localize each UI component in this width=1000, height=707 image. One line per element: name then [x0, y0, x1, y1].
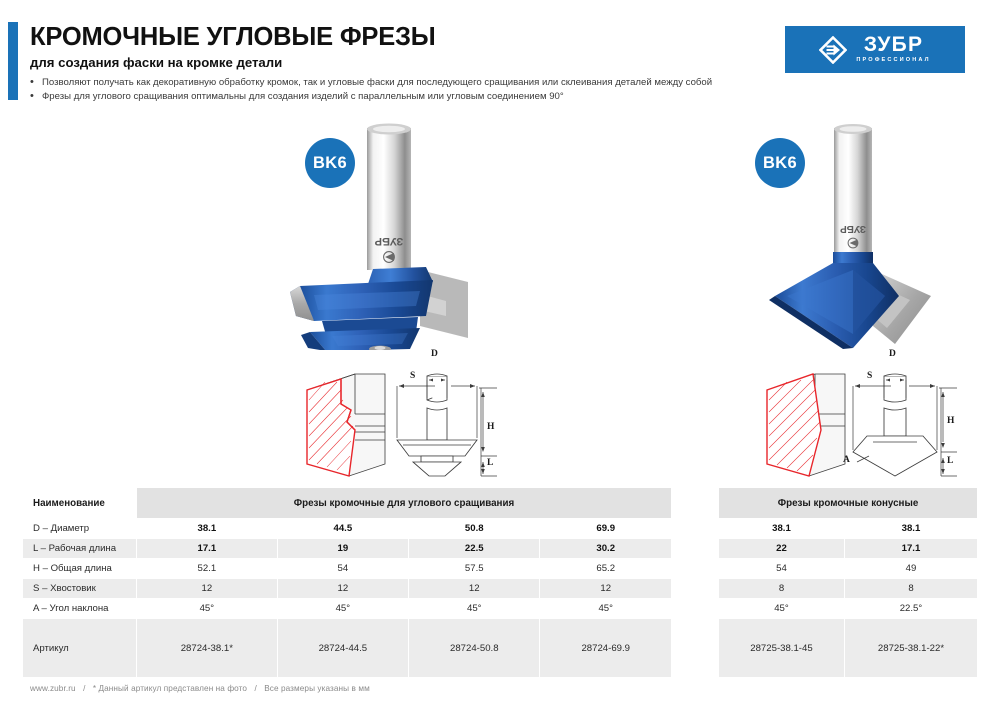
cell-value: 38.1	[719, 519, 844, 538]
dimension-drawing-glue-joint: D S H L	[285, 352, 500, 477]
spec-table-chamfer: Фрезы кромочные конусные 38.1 38.1 22 17…	[718, 487, 978, 678]
badge-label: BK6	[763, 154, 797, 173]
cell-value: 54	[278, 559, 408, 578]
table-row: H – Общая длина 52.1 54 57.5 65.2	[23, 559, 671, 578]
cell-value: 45°	[540, 599, 671, 618]
table-row: 8 8	[719, 579, 977, 598]
list-item: Позволяют получать как декоративную обра…	[30, 76, 760, 90]
cell-value: 12	[137, 579, 277, 598]
cell-article: 28724-38.1*	[137, 619, 277, 677]
cell-article: 28725-38.1-22*	[845, 619, 977, 677]
cell-value: 12	[540, 579, 671, 598]
cell-value: 8	[845, 579, 977, 598]
svg-text:ЗУБР: ЗУБР	[375, 235, 404, 247]
table-header-row: Наименование Фрезы кромочные для угловог…	[23, 488, 671, 518]
dim-label-l: L	[487, 458, 493, 468]
cell-value: 45°	[278, 599, 408, 618]
cell-value: 22	[719, 539, 844, 558]
dim-label-d: D	[889, 349, 896, 359]
row-label: L – Рабочая длина	[23, 539, 136, 558]
dimension-drawing-chamfer: D S H L A	[745, 352, 960, 477]
cell-value: 22.5°	[845, 599, 977, 618]
list-item: Фрезы для углового сращивания оптимальны…	[30, 90, 760, 104]
badge-material-bk6: BK6	[755, 138, 805, 188]
table-group-header: Фрезы кромочные для углового сращивания	[137, 488, 671, 518]
dim-label-s: S	[867, 371, 872, 381]
table-row-article: Артикул 28724-38.1* 28724-44.5 28724-50.…	[23, 619, 671, 677]
cell-article: 28724-44.5	[278, 619, 408, 677]
table-row-article: 28725-38.1-45 28725-38.1-22*	[719, 619, 977, 677]
cell-value: 8	[719, 579, 844, 598]
footer-note: www.zubr.ru / * Данный артикул представл…	[30, 684, 370, 693]
feature-bullet-list: Позволяют получать как декоративную обра…	[30, 76, 760, 104]
svg-text:ЗУБР: ЗУБР	[840, 223, 866, 234]
cell-value: 57.5	[409, 559, 539, 578]
arrow-diamond-icon	[819, 36, 847, 64]
table-row: 54 49	[719, 559, 977, 578]
cell-value: 38.1	[845, 519, 977, 538]
cell-value: 49	[845, 559, 977, 578]
brand-logo: ЗУБР ПРОФЕССИОНАЛ	[785, 26, 965, 73]
table-row: 38.1 38.1	[719, 519, 977, 538]
dim-label-s: S	[410, 371, 415, 381]
cell-value: 45°	[137, 599, 277, 618]
table-group-header: Фрезы кромочные конусные	[719, 488, 977, 518]
table-row: S – Хвостовик 12 12 12 12	[23, 579, 671, 598]
product-spec-sheet: КРОМОЧНЫЕ УГЛОВЫЕ ФРЕЗЫ для создания фас…	[0, 0, 1000, 707]
cell-value: 30.2	[540, 539, 671, 558]
table-header-row: Фрезы кромочные конусные	[719, 488, 977, 518]
page-subtitle: для создания фаски на кромке детали	[30, 55, 282, 70]
cell-value: 38.1	[137, 519, 277, 538]
cell-value: 22.5	[409, 539, 539, 558]
cell-value: 17.1	[137, 539, 277, 558]
logo-wordmark: ЗУБР ПРОФЕССИОНАЛ	[856, 34, 930, 65]
badge-material-bk6: BK6	[305, 138, 355, 188]
row-label: H – Общая длина	[23, 559, 136, 578]
cell-value: 54	[719, 559, 844, 578]
cell-article: 28724-50.8	[409, 619, 539, 677]
table-row: 22 17.1	[719, 539, 977, 558]
dim-label-h: H	[947, 416, 954, 426]
table-row: 45° 22.5°	[719, 599, 977, 618]
logo-name: ЗУБР	[864, 34, 923, 55]
row-label: D – Диаметр	[23, 519, 136, 538]
cell-value: 52.1	[137, 559, 277, 578]
table-corner-label: Наименование	[23, 488, 136, 518]
cell-value: 12	[278, 579, 408, 598]
cell-article: 28724-69.9	[540, 619, 671, 677]
footer-units-note: Все размеры указаны в мм	[264, 684, 370, 693]
cell-value: 17.1	[845, 539, 977, 558]
cell-value: 45°	[409, 599, 539, 618]
table-row: D – Диаметр 38.1 44.5 50.8 69.9	[23, 519, 671, 538]
page-title: КРОМОЧНЫЕ УГЛОВЫЕ ФРЕЗЫ	[30, 24, 436, 51]
cell-value: 44.5	[278, 519, 408, 538]
logo-tagline: ПРОФЕССИОНАЛ	[856, 56, 930, 65]
footer-separator: /	[249, 684, 261, 693]
table-row: L – Рабочая длина 17.1 19 22.5 30.2	[23, 539, 671, 558]
dim-label-h: H	[487, 422, 494, 432]
cell-value: 50.8	[409, 519, 539, 538]
dim-label-a: A	[843, 455, 850, 465]
footer-separator: /	[78, 684, 90, 693]
row-label: S – Хвостовик	[23, 579, 136, 598]
cell-value: 69.9	[540, 519, 671, 538]
cell-article: 28725-38.1-45	[719, 619, 844, 677]
cell-value: 65.2	[540, 559, 671, 578]
spec-table-glue-joint: Наименование Фрезы кромочные для угловог…	[22, 487, 672, 678]
cell-value: 19	[278, 539, 408, 558]
row-label: A – Угол наклона	[23, 599, 136, 618]
footer-article-note: * Данный артикул представлен на фото	[93, 684, 247, 693]
dim-label-d: D	[431, 349, 438, 359]
badge-label: BK6	[313, 154, 347, 173]
cell-value: 12	[409, 579, 539, 598]
row-label: Артикул	[23, 619, 136, 677]
cell-value: 45°	[719, 599, 844, 618]
title-accent-bar	[8, 22, 18, 100]
footer-website: www.zubr.ru	[30, 684, 76, 693]
dim-label-l: L	[947, 456, 953, 466]
table-row: A – Угол наклона 45° 45° 45° 45°	[23, 599, 671, 618]
